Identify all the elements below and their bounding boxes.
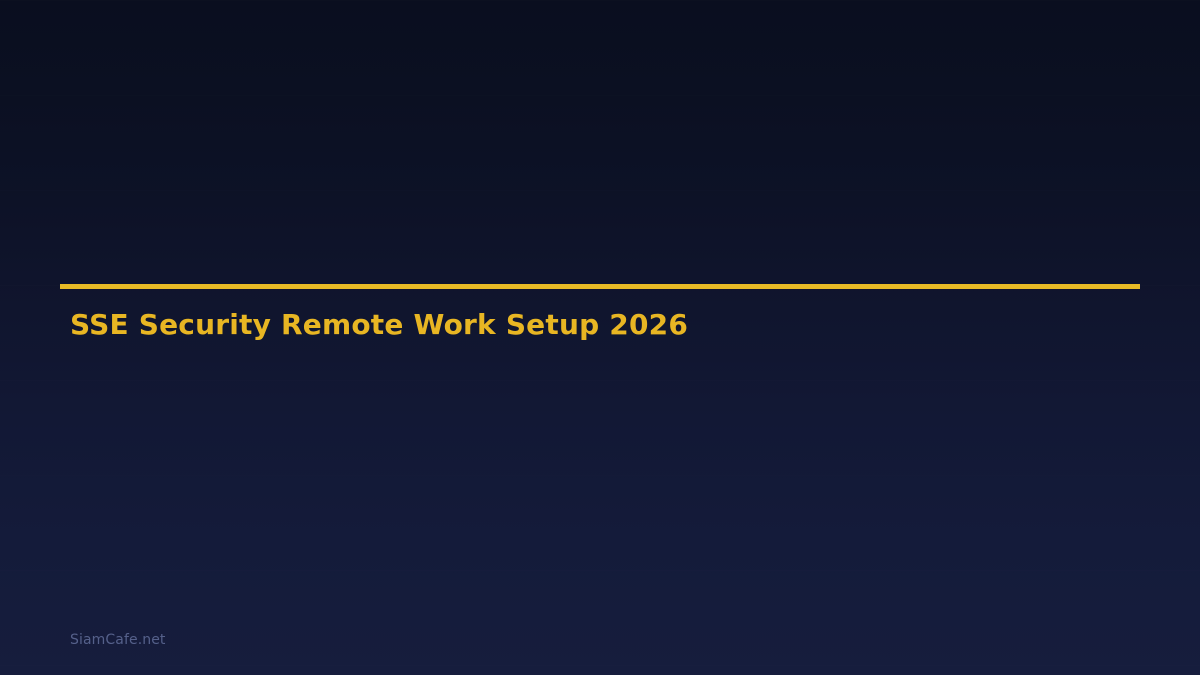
page-title: SSE Security Remote Work Setup 2026 xyxy=(70,308,688,342)
title-block: SSE Security Remote Work Setup 2026 xyxy=(60,284,1140,289)
accent-rule-divider xyxy=(60,284,1140,289)
presentation-slide: SSE Security Remote Work Setup 2026 Siam… xyxy=(0,0,1200,675)
footer-brand-label: SiamCafe.net xyxy=(70,630,166,650)
